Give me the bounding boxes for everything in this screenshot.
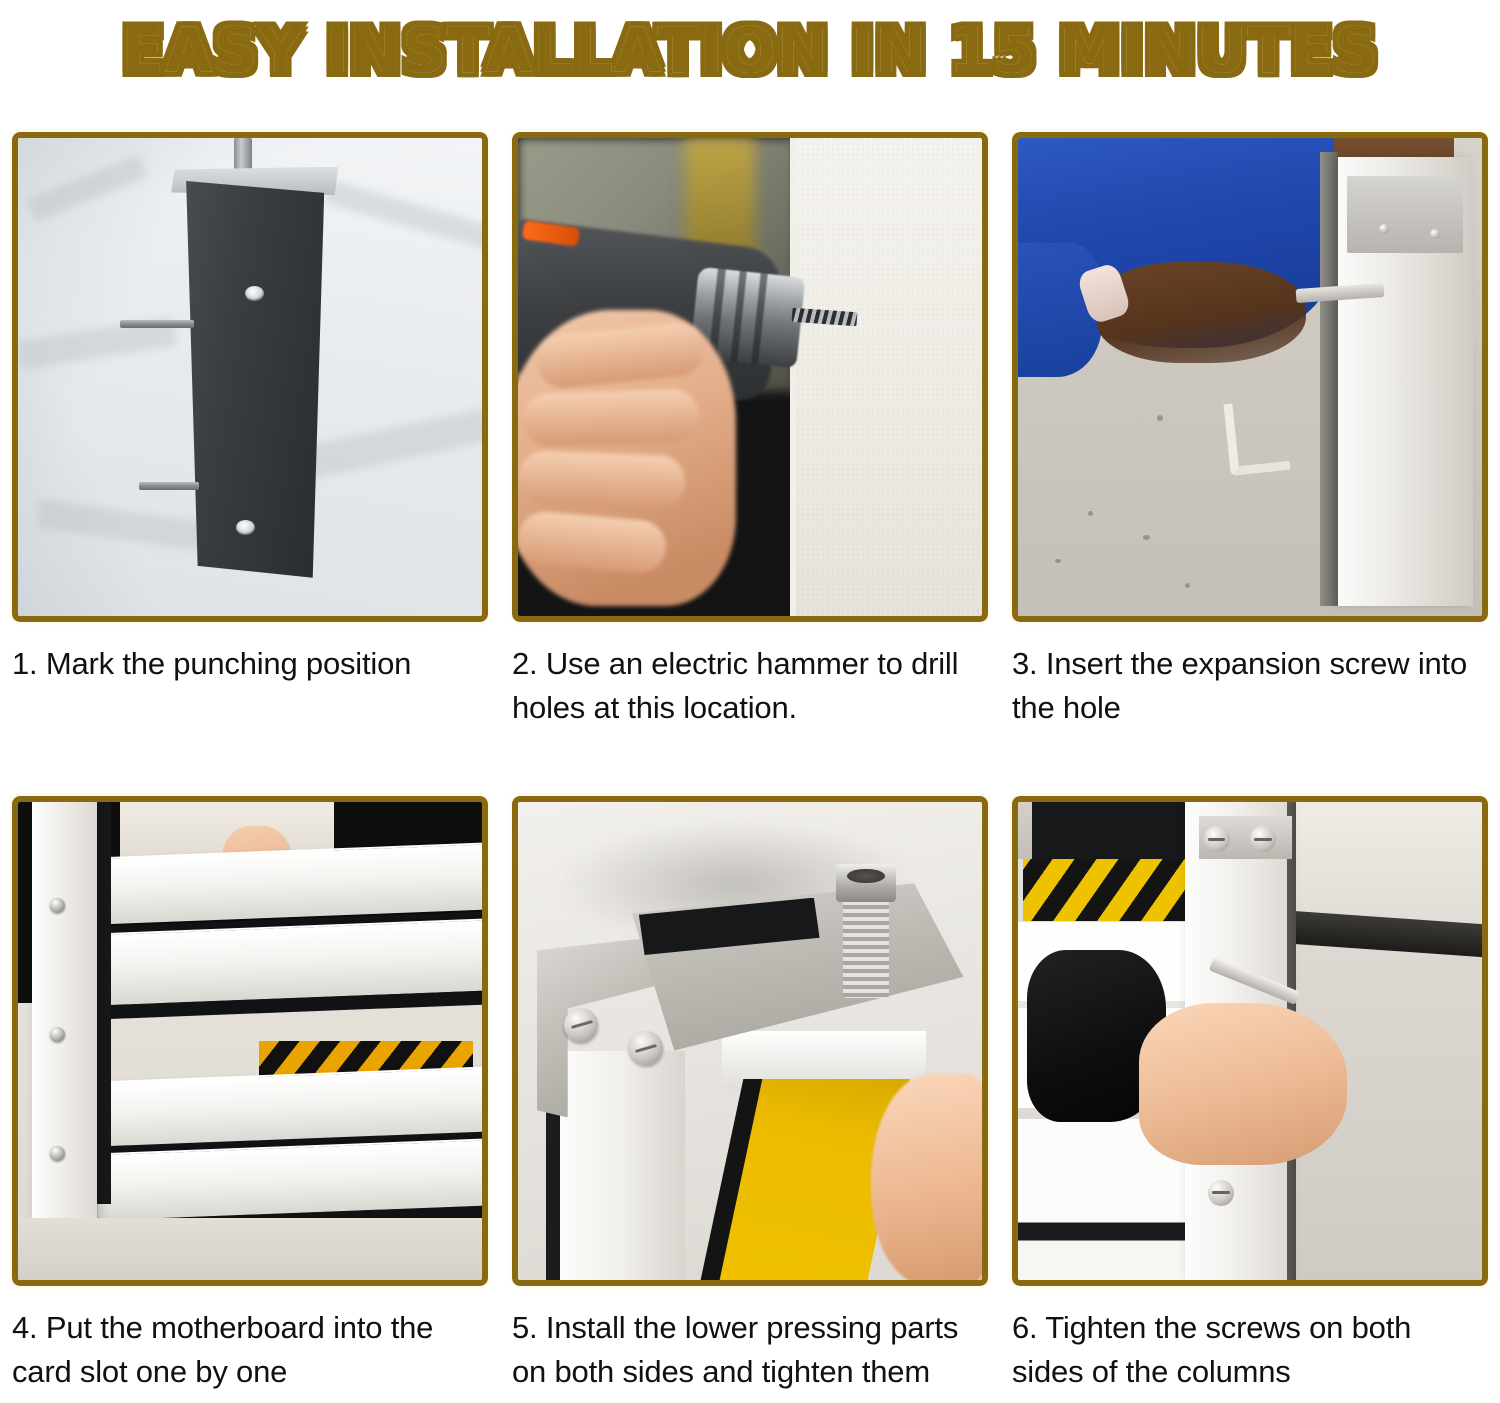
- step-photo-4: [18, 802, 482, 1280]
- step-caption-6: 6. Tighten the screws on both sides of t…: [1012, 1306, 1488, 1403]
- step-image-frame-6: [1012, 796, 1488, 1286]
- step-image-frame-5: [512, 796, 988, 1286]
- step-caption-5: 5. Install the lower pressing parts on b…: [512, 1306, 988, 1403]
- step-caption-3: 3. Insert the expansion screw into the h…: [1012, 642, 1488, 762]
- step-caption-2: 2. Use an electric hammer to drill holes…: [512, 642, 988, 762]
- step-cell-5: 5. Install the lower pressing parts on b…: [500, 762, 1000, 1403]
- steps-grid: 1. Mark the punching position: [0, 98, 1500, 1403]
- step-image-frame-2: [512, 132, 988, 622]
- step-photo-2: [518, 138, 982, 616]
- page-title: EASY INSTALLATION IN 15 MINUTES: [122, 14, 1378, 87]
- title-banner: EASY INSTALLATION IN 15 MINUTES: [0, 0, 1500, 96]
- step-image-frame-3: [1012, 132, 1488, 622]
- step-photo-3: [1018, 138, 1482, 616]
- step-caption-1: 1. Mark the punching position: [12, 642, 488, 762]
- step-cell-3: 3. Insert the expansion screw into the h…: [1000, 98, 1500, 762]
- step-image-frame-4: [12, 796, 488, 1286]
- step-photo-1: [18, 138, 482, 616]
- step-photo-6: [1018, 802, 1482, 1280]
- step-cell-1: 1. Mark the punching position: [0, 98, 500, 762]
- step-cell-6: 6. Tighten the screws on both sides of t…: [1000, 762, 1500, 1403]
- installation-guide-page: EASY INSTALLATION IN 15 MINUTES: [0, 0, 1500, 1403]
- step-cell-2: 2. Use an electric hammer to drill holes…: [500, 98, 1000, 762]
- step-image-frame-1: [12, 132, 488, 622]
- step-caption-4: 4. Put the motherboard into the card slo…: [12, 1306, 488, 1403]
- step-photo-5: [518, 802, 982, 1280]
- step-cell-4: 4. Put the motherboard into the card slo…: [0, 762, 500, 1403]
